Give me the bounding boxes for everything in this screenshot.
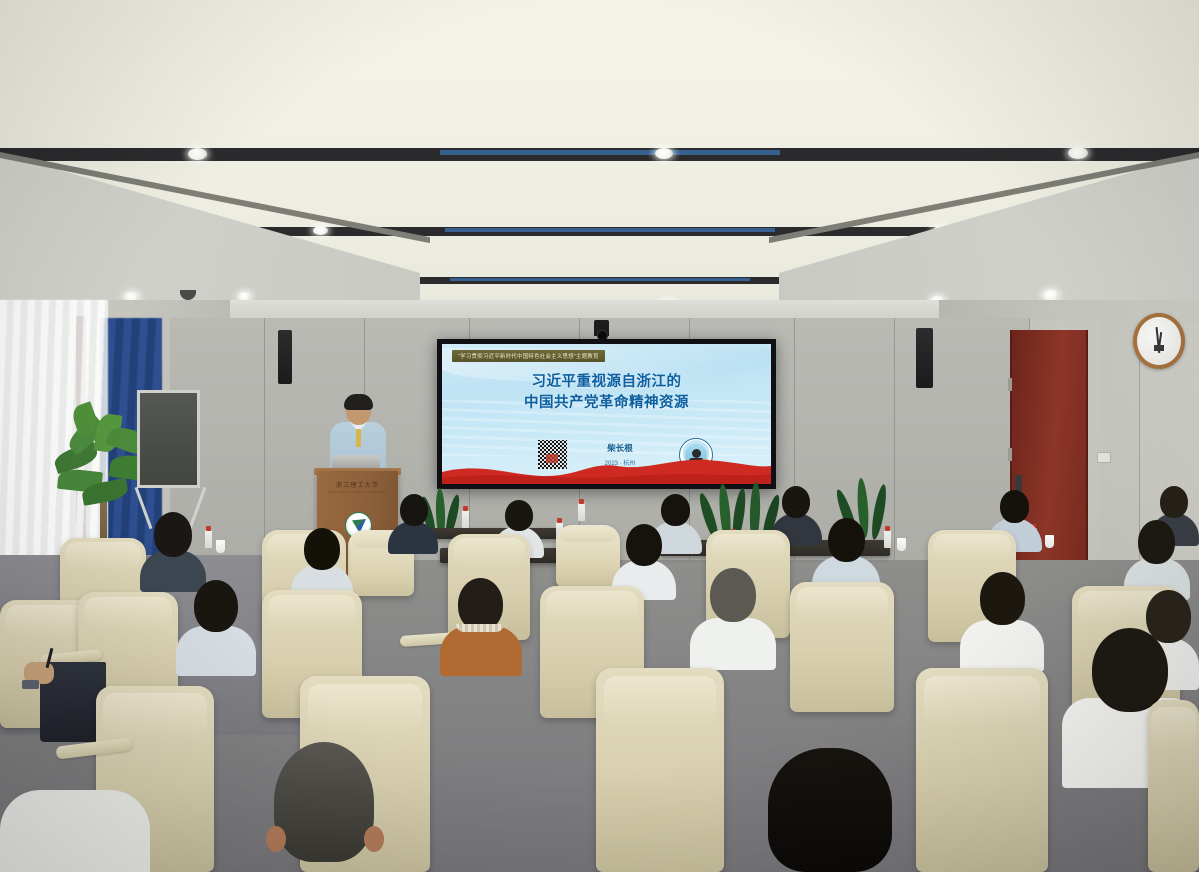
- attendee-head: [274, 742, 374, 862]
- mobile-whiteboard: [137, 390, 200, 488]
- attendee-head: [782, 486, 810, 518]
- attendee-shoulders: [690, 618, 776, 670]
- attendee-head: [1138, 520, 1175, 564]
- attendee-shoulders: [0, 790, 150, 872]
- attendee-head: [154, 512, 192, 557]
- paper-cup: [897, 538, 906, 551]
- slide-banner: “学习贯彻习近平新时代中国特色社会主义思想”主题教育: [452, 350, 605, 362]
- chair[interactable]: [916, 668, 1048, 872]
- downlight: [188, 148, 207, 160]
- water-bottle: [462, 510, 469, 528]
- podium-org-name-en: ZHEJIANG SCI-TECH UNIVERSITY: [317, 490, 398, 494]
- attendee: [960, 572, 1044, 672]
- chair[interactable]: [556, 525, 620, 587]
- wall-speaker-right: [916, 328, 933, 388]
- paper-cup: [1045, 535, 1054, 548]
- attendee-head: [980, 572, 1025, 625]
- attendee-foreground: [0, 790, 150, 872]
- attendee-shoulders: [176, 626, 256, 676]
- attendee-head: [1160, 486, 1188, 518]
- ceiling-strip-accent-1: [440, 150, 780, 155]
- attendee-head: [505, 500, 533, 531]
- slide-title: 习近平重视源自浙江的 中国共产党革命精神资源: [442, 372, 771, 413]
- attendee-shoulders: [440, 626, 522, 676]
- downlight: [1068, 147, 1088, 159]
- presenter-hair: [344, 394, 373, 410]
- chair[interactable]: [596, 668, 724, 872]
- attendee-head: [1092, 628, 1168, 712]
- attendee-shoulders: [960, 620, 1044, 672]
- wall-speaker-left: [278, 330, 292, 384]
- slide-content: “学习贯彻习近平新时代中国特色社会主义思想”主题教育 习近平重视源自浙江的 中国…: [442, 344, 771, 484]
- necklace: [456, 624, 504, 632]
- chair[interactable]: [1148, 700, 1199, 872]
- attendee-ear: [266, 826, 286, 852]
- attendee-ear: [364, 826, 384, 852]
- attendee-head: [194, 580, 238, 632]
- paper-cup: [216, 540, 225, 553]
- chair[interactable]: [790, 582, 894, 712]
- attendee-head: [828, 518, 865, 562]
- ceiling-strip-accent-3: [450, 278, 750, 281]
- attendee-foreground: [760, 748, 900, 872]
- attendee: [388, 494, 438, 554]
- attendee-head: [661, 494, 690, 526]
- attendee-head: [710, 568, 756, 622]
- attendee-head: [400, 494, 428, 526]
- clock-face: [1137, 317, 1181, 365]
- wristwatch: [22, 680, 39, 689]
- attendee-foreground: [258, 742, 390, 872]
- wall-clock: [1133, 313, 1185, 369]
- light-switch[interactable]: [1097, 452, 1111, 463]
- ceiling: [0, 0, 1199, 330]
- attendee-head: [1000, 490, 1029, 523]
- slide-title-line1: 习近平重视源自浙江的: [442, 372, 771, 393]
- attendee: [176, 580, 256, 676]
- water-bottle: [884, 530, 891, 548]
- water-bottle: [205, 530, 212, 548]
- attendee: [690, 568, 776, 670]
- attendee-head: [626, 524, 662, 566]
- downlight: [313, 226, 328, 235]
- slide-title-line2: 中国共产党革命精神资源: [442, 393, 771, 414]
- ceiling-panel-upper: [0, 0, 1199, 152]
- presentation-display[interactable]: “学习贯彻习近平新时代中国特色社会主义思想”主题教育 习近平重视源自浙江的 中国…: [437, 339, 776, 489]
- clock-date-window: [1154, 345, 1164, 351]
- water-bottle: [578, 503, 585, 521]
- podium-org-name: 浙江理工大学: [317, 480, 398, 489]
- ceiling-camera: [594, 320, 609, 336]
- door-hinge: [1008, 378, 1012, 391]
- presenter-name: 柴长根: [570, 442, 670, 454]
- presenter-tie: [356, 429, 361, 447]
- attendee: [440, 578, 522, 676]
- attendee-head: [768, 748, 892, 872]
- attendee-head: [304, 528, 340, 570]
- door-hinge: [1008, 448, 1012, 461]
- ceiling-strip-accent-2: [445, 228, 775, 232]
- meeting-room-photo: “学习贯彻习近平新时代中国特色社会主义思想”主题教育 习近平重视源自浙江的 中国…: [0, 0, 1199, 872]
- downlight: [655, 148, 673, 159]
